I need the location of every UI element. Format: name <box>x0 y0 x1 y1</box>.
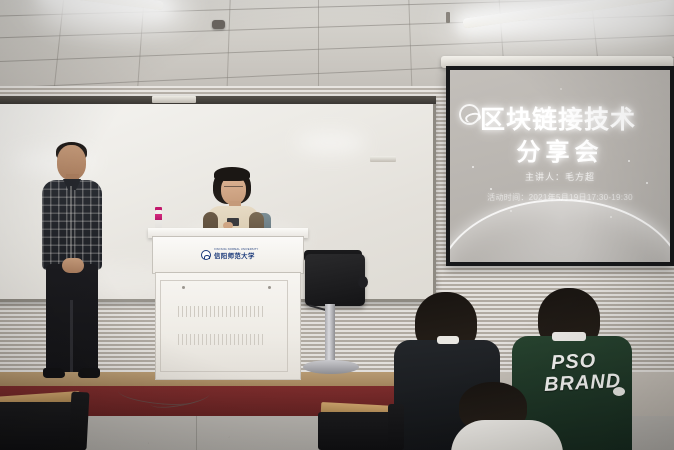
standing-man-shoe-left <box>43 368 65 378</box>
front-desk-right-edge <box>318 412 398 450</box>
whiteboard-top-rail <box>0 96 436 104</box>
jacket-text-line2: BRAND <box>544 371 622 395</box>
sprinkler-head-icon <box>446 12 450 23</box>
lecture-hall-photo: 区块链接技术 分享会 主讲人：毛方超 活动时间：2021年5月19日17:30-… <box>0 0 674 450</box>
front-chair-left-back <box>68 392 89 450</box>
office-chair-knob[interactable] <box>358 276 368 288</box>
jacket-text-line1: PSO <box>551 351 597 373</box>
blockchain-logo-icon <box>459 104 480 125</box>
slide-speaker-line: 主讲人：毛方超 <box>450 170 670 183</box>
podium-logo-chinese: 信阳师范大学 <box>214 254 255 260</box>
water-bottle-label <box>155 214 162 220</box>
earth-globe-graphic <box>450 199 670 262</box>
podium-vent-lower <box>178 334 264 345</box>
jacket-patch <box>613 387 625 396</box>
podium-front-panel <box>160 280 288 372</box>
slide-surface: 区块链接技术 分享会 主讲人：毛方超 活动时间：2021年5月19日17:30-… <box>450 70 670 262</box>
standing-man-plaid-shirt <box>42 180 102 270</box>
office-chair-base <box>303 360 359 374</box>
office-chair-back[interactable] <box>305 254 365 306</box>
projection-screen[interactable]: 区块链接技术 分享会 主讲人：毛方超 活动时间：2021年5月19日17:30-… <box>446 66 674 266</box>
whiteboard-marker-tray <box>152 96 196 103</box>
smoke-detector-icon <box>212 20 225 29</box>
slide-title: 区块链接技术 <box>480 100 666 136</box>
podium-vent-upper <box>178 306 264 317</box>
front-chair-right-back <box>388 404 404 450</box>
whiteboard-eraser <box>370 156 396 162</box>
slide-subtitle: 分享会 <box>450 132 670 167</box>
standing-man-shoe-right <box>78 368 100 378</box>
university-crest-icon <box>201 250 211 260</box>
office-chair-post <box>325 304 335 364</box>
standing-man-hands <box>62 258 84 273</box>
podium-logo-english: XINYANG NORMAL UNIVERSITY <box>214 249 259 252</box>
audience-2-collar <box>552 332 586 341</box>
glasses-icon <box>224 186 243 191</box>
audience-1-collar <box>437 336 459 344</box>
audience-3-hood <box>451 420 563 450</box>
